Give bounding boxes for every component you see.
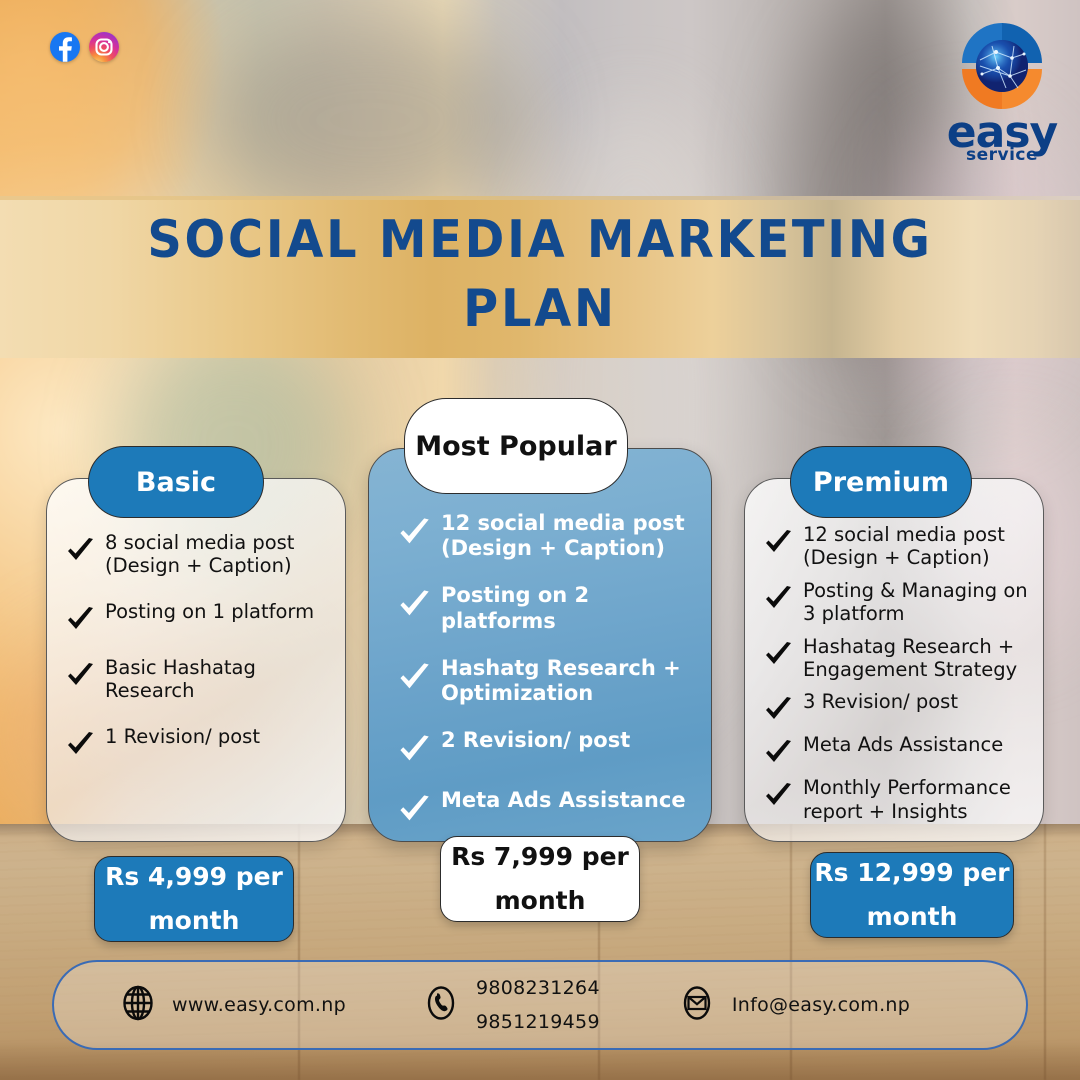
price-badge-basic[interactable]: Rs 4,999 per month — [94, 856, 294, 942]
feature-text: Hashatg Research + Optimization — [441, 656, 699, 706]
check-icon — [763, 694, 793, 724]
contact-website[interactable]: www.easy.com.np — [118, 983, 346, 1028]
feature-item: Meta Ads Assistance — [369, 788, 711, 826]
plan-badge-popular[interactable]: Most Popular — [404, 398, 628, 494]
email-text: Info@easy.com.np — [732, 994, 910, 1016]
feature-item: Posting & Managing on 3 platform — [745, 579, 1043, 626]
check-icon — [397, 515, 431, 549]
feature-item: 8 social media post (Design + Caption) — [47, 531, 345, 578]
background-blur-blob — [210, 20, 530, 220]
check-icon — [397, 660, 431, 694]
feature-text: 12 social media post (Design + Caption) — [803, 523, 1029, 570]
feature-text: 3 Revision/ post — [803, 690, 958, 713]
feature-text: Meta Ads Assistance — [441, 788, 686, 813]
brand-logo: easy service — [942, 16, 1062, 166]
feature-text: Meta Ads Assistance — [803, 733, 1003, 756]
price-badge-popular[interactable]: Rs 7,999 per month — [440, 836, 640, 922]
globe-icon — [118, 983, 158, 1028]
check-icon — [65, 535, 95, 565]
feature-item: Hashatg Research + Optimization — [369, 656, 711, 706]
check-icon — [65, 729, 95, 759]
feature-text: 1 Revision/ post — [105, 725, 260, 748]
feature-text: Basic Hashatag Research — [105, 656, 331, 703]
feature-item: Monthly Performance report + Insights — [745, 776, 1043, 823]
page-title-line1: SOCIAL MEDIA MARKETING — [43, 206, 1037, 275]
check-icon — [65, 660, 95, 690]
contact-email[interactable]: Info@easy.com.np — [676, 982, 910, 1029]
plan-card-premium[interactable]: 12 social media post (Design + Caption) … — [744, 478, 1044, 842]
plan-badge-basic[interactable]: Basic — [88, 446, 264, 518]
phone-number-1: 9808231264 — [476, 977, 600, 999]
check-icon — [763, 639, 793, 669]
feature-item: Meta Ads Assistance — [745, 733, 1043, 767]
feature-list: 12 social media post (Design + Caption) … — [745, 523, 1043, 832]
plan-card-basic[interactable]: 8 social media post (Design + Caption) P… — [46, 478, 346, 842]
price-badge-premium[interactable]: Rs 12,999 per month — [810, 852, 1014, 938]
feature-item: 3 Revision/ post — [745, 690, 1043, 724]
poster-canvas: easy service SOCIAL MEDIA MARKETING PLAN… — [0, 0, 1080, 1080]
social-icons — [50, 32, 119, 62]
feature-item: Posting on 2 platforms — [369, 583, 711, 633]
feature-list: 12 social media post (Design + Caption) … — [369, 511, 711, 848]
phone-number-2: 9851219459 — [476, 1011, 600, 1033]
contact-phone[interactable]: 9808231264 9851219459 — [420, 977, 600, 1033]
contact-footer: www.easy.com.np 9808231264 9851219459 — [52, 960, 1028, 1050]
feature-item: Posting on 1 platform — [47, 600, 345, 634]
feature-list: 8 social media post (Design + Caption) P… — [47, 531, 345, 781]
check-icon — [397, 732, 431, 766]
feature-item: 12 social media post (Design + Caption) — [745, 523, 1043, 570]
check-icon — [397, 792, 431, 826]
feature-item: 1 Revision/ post — [47, 725, 345, 759]
feature-text: Posting on 2 platforms — [441, 583, 699, 633]
check-icon — [397, 587, 431, 621]
phone-numbers: 9808231264 9851219459 — [476, 977, 600, 1033]
instagram-icon[interactable] — [89, 32, 119, 62]
envelope-icon — [676, 982, 718, 1029]
feature-item: Hashatag Research + Engagement Strategy — [745, 635, 1043, 682]
feature-text: Hashatag Research + Engagement Strategy — [803, 635, 1029, 682]
check-icon — [763, 780, 793, 810]
feature-text: 2 Revision/ post — [441, 728, 630, 753]
plan-badge-premium[interactable]: Premium — [790, 446, 972, 518]
facebook-icon[interactable] — [50, 32, 80, 62]
feature-item: 2 Revision/ post — [369, 728, 711, 766]
globe-network-ring-icon — [948, 16, 1056, 116]
website-text: www.easy.com.np — [172, 994, 346, 1016]
check-icon — [65, 604, 95, 634]
check-icon — [763, 527, 793, 557]
feature-text: 8 social media post (Design + Caption) — [105, 531, 331, 578]
phone-icon — [420, 982, 462, 1029]
page-title: SOCIAL MEDIA MARKETING PLAN — [43, 206, 1037, 343]
page-title-line2: PLAN — [43, 275, 1037, 344]
feature-text: Posting & Managing on 3 platform — [803, 579, 1029, 626]
check-icon — [763, 737, 793, 767]
feature-text: Monthly Performance report + Insights — [803, 776, 1029, 823]
feature-item: Basic Hashatag Research — [47, 656, 345, 703]
feature-item: 12 social media post (Design + Caption) — [369, 511, 711, 561]
feature-text: 12 social media post (Design + Caption) — [441, 511, 699, 561]
plan-card-popular[interactable]: 12 social media post (Design + Caption) … — [368, 448, 712, 842]
check-icon — [763, 583, 793, 613]
feature-text: Posting on 1 platform — [105, 600, 314, 623]
